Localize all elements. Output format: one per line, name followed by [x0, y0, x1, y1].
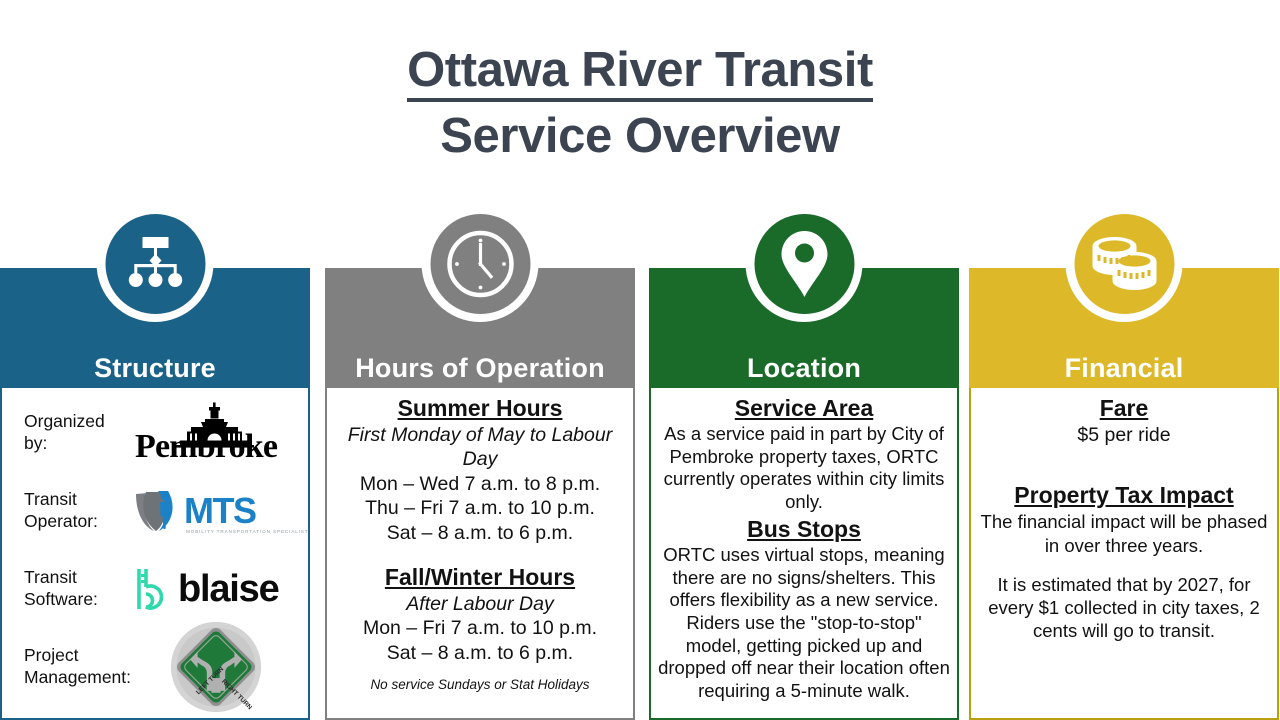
structure-row-logo: MTS MOBILITY TRANSPORTATION SPECIALISTS — [132, 472, 304, 550]
section-spacer — [977, 447, 1271, 463]
hours-line: Thu – Fri 7 a.m. to 10 p.m. — [333, 496, 627, 520]
section-spacer — [977, 557, 1271, 573]
mts-wordmark: MTS — [184, 493, 256, 529]
section-heading-service-area: Service Area — [657, 394, 951, 422]
section-subtitle-summer-hours: First Monday of May to Labour Day — [333, 423, 627, 472]
column-header-label-structure: Structure — [0, 353, 310, 384]
coins-icon — [1086, 233, 1162, 295]
hours-note: No service Sundays or Stat Holidays — [333, 677, 627, 693]
page-title: Ottawa River Transit Service Overview — [0, 44, 1280, 163]
financial-closing-statement: It is estimated that by 2027, for every … — [977, 573, 1271, 642]
org-chart-icon — [123, 235, 187, 293]
pembroke-wordmark: Pembroke — [135, 430, 297, 464]
column-hours-of-operation: Hours of Operation Summer Hours First Mo… — [325, 205, 635, 720]
section-heading-summer-hours: Summer Hours — [333, 394, 627, 422]
structure-row: Transit Software: — [10, 550, 300, 628]
column-body-structure: Organized by: — [0, 388, 310, 720]
column-header-label-location: Location — [649, 353, 959, 384]
mts-tagline: MOBILITY TRANSPORTATION SPECIALISTS — [186, 529, 310, 534]
section-spacer — [977, 463, 1271, 479]
hours-line: Sat – 8 a.m. to 6 p.m. — [333, 641, 627, 665]
structure-row: Project Management: LEFT TURN — [10, 628, 300, 706]
section-heading-property-tax-impact: Property Tax Impact — [977, 481, 1271, 509]
page-title-line-2: Service Overview — [0, 110, 1280, 163]
structure-row-label: Transit Software: — [24, 567, 132, 611]
structure-row-label: Organized by: — [24, 411, 132, 455]
blaise-wordmark: blaise — [178, 570, 279, 608]
section-body-fare: $5 per ride — [977, 423, 1271, 447]
structure-row: Organized by: — [10, 394, 300, 472]
hours-line: Mon – Fri 7 a.m. to 10 p.m. — [333, 616, 627, 640]
left-turn-right-turn-logo: LEFT TURN RIGHT TURN — [170, 621, 262, 713]
pembroke-logo: Pembroke — [135, 402, 297, 464]
icon-badge-structure — [97, 205, 214, 322]
map-pin-icon — [779, 229, 829, 299]
structure-row-logo: blaise — [132, 550, 308, 628]
structure-row: Transit Operator: MTS MOBILITY TRANSPORT… — [10, 472, 300, 550]
section-heading-bus-stops: Bus Stops — [657, 515, 951, 543]
column-body-location: Service Area As a service paid in part b… — [649, 388, 959, 720]
icon-badge-location — [746, 205, 863, 322]
column-structure: Structure Organized by — [0, 205, 310, 720]
structure-row-logo: LEFT TURN RIGHT TURN — [132, 628, 300, 706]
column-body-hours: Summer Hours First Monday of May to Labo… — [325, 388, 635, 720]
column-financial: Financial — [969, 205, 1279, 720]
icon-badge-hours — [422, 205, 539, 322]
clock-icon — [444, 228, 516, 300]
column-header-label-financial: Financial — [969, 353, 1279, 384]
mts-swoosh-icon — [132, 488, 182, 534]
mts-logo: MTS MOBILITY TRANSPORTATION SPECIALISTS — [132, 487, 304, 535]
structure-row-logo: Pembroke — [132, 394, 300, 472]
hours-line: Sat – 8 a.m. to 6 p.m. — [333, 521, 627, 545]
section-heading-fare: Fare — [977, 394, 1271, 422]
page-title-line-1: Ottawa River Transit — [407, 44, 873, 102]
hours-line: Mon – Wed 7 a.m. to 8 p.m. — [333, 472, 627, 496]
structure-row-label: Transit Operator: — [24, 489, 132, 533]
section-body-service-area: As a service paid in part by City of Pem… — [657, 423, 951, 513]
section-spacer — [333, 545, 627, 561]
section-heading-fall-winter-hours: Fall/Winter Hours — [333, 563, 627, 591]
column-body-financial: Fare $5 per ride Property Tax Impact The… — [969, 388, 1279, 720]
column-header-label-hours: Hours of Operation — [325, 353, 635, 384]
column-location: Location Service Area As a service paid … — [649, 205, 959, 720]
overview-columns: Structure Organized by — [0, 205, 1280, 720]
section-subtitle-fall-winter-hours: After Labour Day — [333, 592, 627, 616]
section-body-property-tax-impact: The financial impact will be phased in o… — [977, 510, 1271, 556]
blaise-mark-icon — [132, 566, 174, 612]
section-body-bus-stops: ORTC uses virtual stops, meaning there a… — [657, 544, 951, 702]
structure-row-label: Project Management: — [24, 645, 132, 689]
icon-badge-financial — [1066, 205, 1183, 322]
blaise-logo: blaise — [132, 566, 308, 612]
